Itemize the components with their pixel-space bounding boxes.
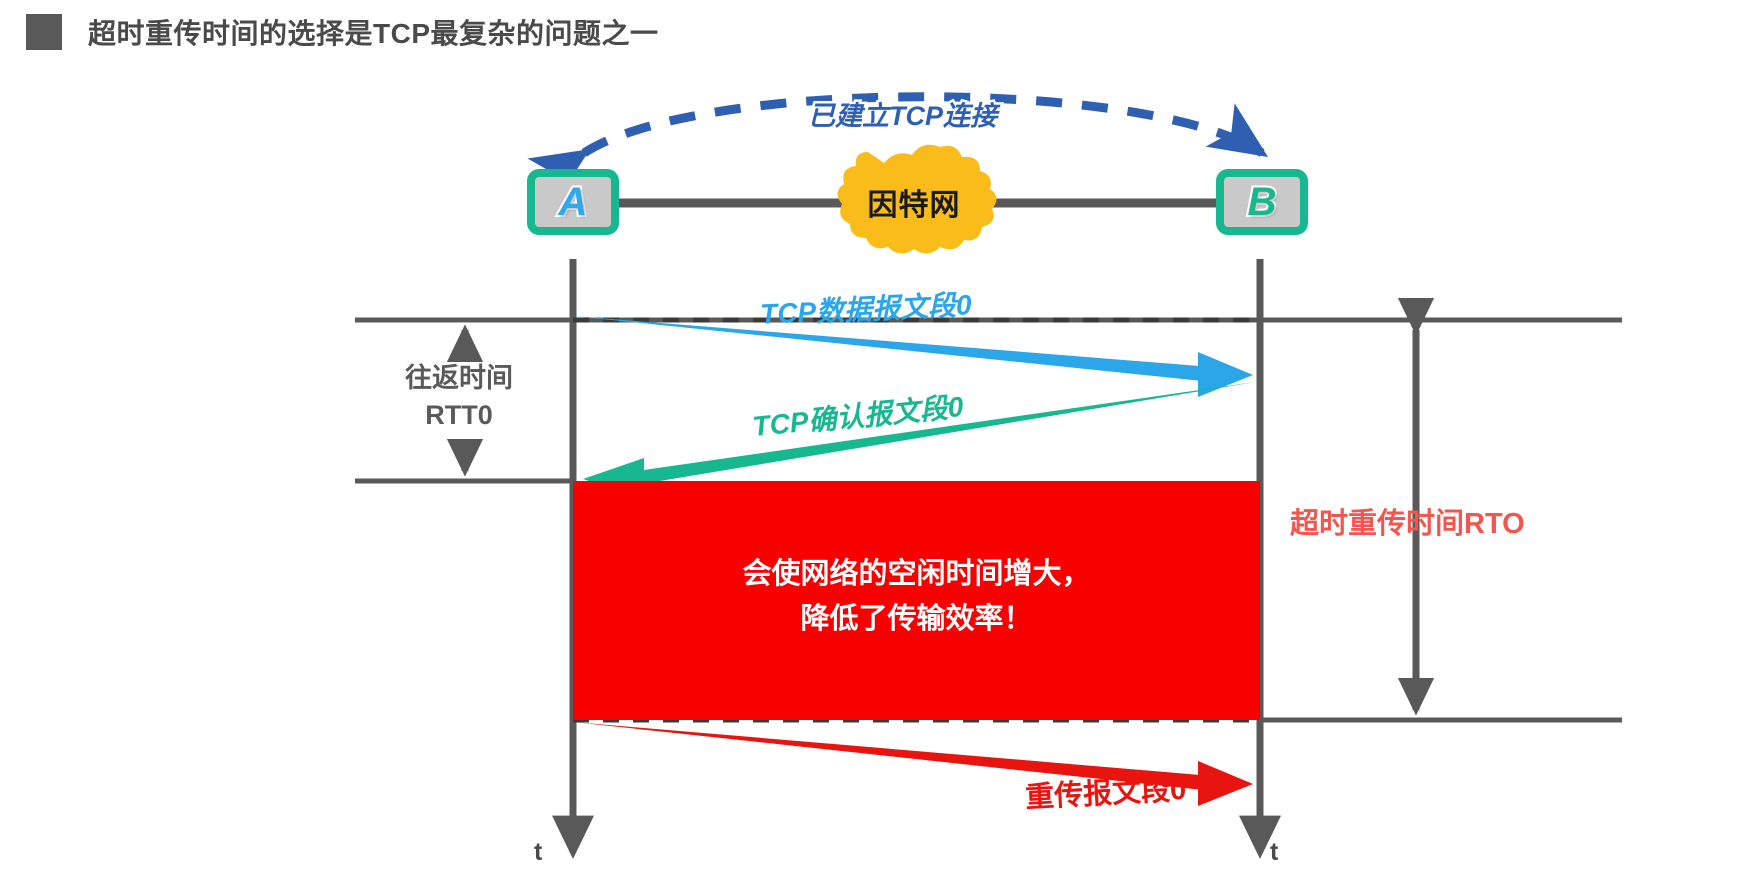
- host-a-label: A: [559, 182, 588, 222]
- idle-time-line-2: 降低了传输效率！: [573, 597, 1260, 642]
- host-b-label: B: [1248, 182, 1277, 222]
- idle-time-text: 会使网络的空闲时间增大， 降低了传输效率！: [573, 552, 1260, 642]
- time-axis-label-right: t: [1270, 838, 1278, 867]
- diagram-canvas: [0, 0, 1748, 890]
- diagram-page: 超时重传时间的选择是TCP最复杂的问题之一: [0, 0, 1748, 890]
- time-axis-label-left: t: [534, 838, 542, 867]
- rtt-label-line-1: 往返时间: [386, 360, 532, 397]
- data-segment-arrow: [573, 316, 1253, 397]
- rto-label: 超时重传时间RTO: [1290, 500, 1525, 542]
- rtt-label: 往返时间 RTT0: [386, 360, 532, 435]
- host-a: A: [527, 169, 619, 235]
- rtt-label-line-2: RTT0: [386, 397, 532, 434]
- host-b: B: [1216, 169, 1308, 235]
- internet-cloud-label: 因特网: [838, 180, 990, 224]
- tcp-connection-label: 已建立TCP连接: [808, 94, 997, 133]
- retransmit-segment-label: 重传报文段0: [1024, 766, 1187, 816]
- idle-time-line-1: 会使网络的空闲时间增大，: [573, 552, 1260, 597]
